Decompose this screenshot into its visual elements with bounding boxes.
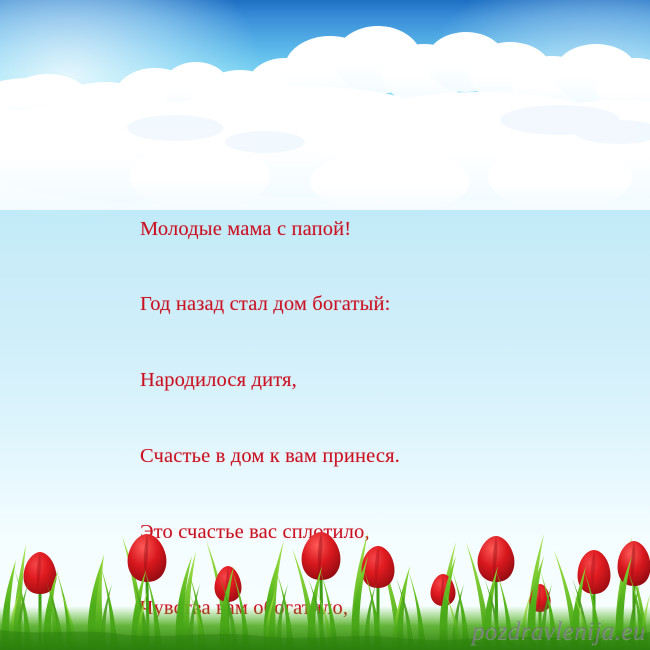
poem-line: Это счастье вас сплотило,: [140, 520, 560, 545]
poem-text: Молодые мама с папой! Год назад стал дом…: [140, 166, 560, 650]
poem-line: Молодые мама с папой!: [140, 217, 560, 242]
poem-line: Счастье в дом к вам принеся.: [140, 444, 560, 469]
poem-line: Народилося дитя,: [140, 368, 560, 393]
poem-line: Чувства вам обогатило,: [140, 596, 560, 621]
poem-line: Год назад стал дом богатый:: [140, 292, 560, 317]
greeting-card: Молодые мама с папой! Год назад стал дом…: [0, 0, 650, 650]
